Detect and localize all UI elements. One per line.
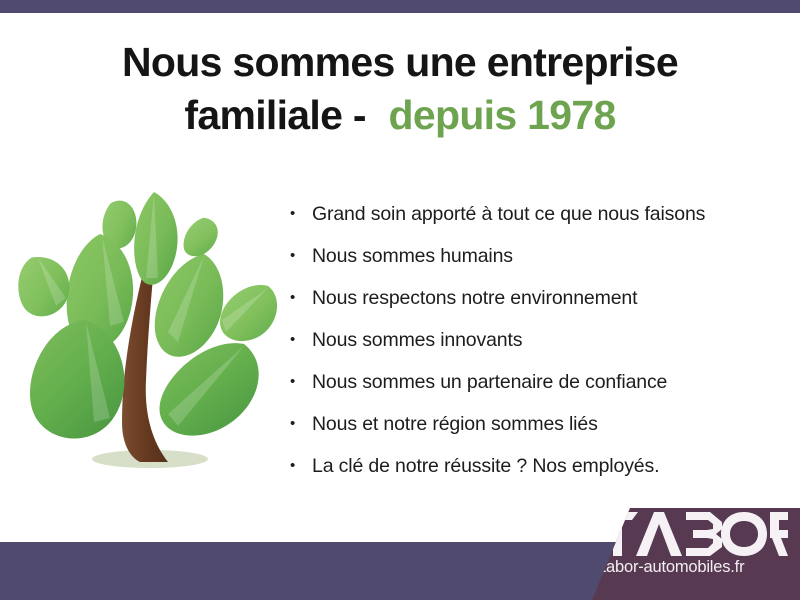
list-item: Nous et notre région sommes liés <box>288 403 774 445</box>
tabor-logo-wordmark <box>598 512 788 556</box>
list-item: Grand soin apporté à tout ce que nous fa… <box>288 193 774 235</box>
list-item: Nous sommes humains <box>288 235 774 277</box>
list-item: Nous sommes un partenaire de confiance <box>288 361 774 403</box>
list-item: La clé de notre réussite ? Nos employés. <box>288 445 774 487</box>
top-frame-bar <box>0 0 800 13</box>
headline-line-2-plain: familiale - <box>184 92 376 138</box>
list-item: Nous respectons notre environnement <box>288 277 774 319</box>
slide-canvas: Nous sommes une entreprise familiale - d… <box>0 0 800 600</box>
headline-line-1: Nous sommes une entreprise <box>122 39 678 85</box>
value-proposition-list: Grand soin apporté à tout ce que nous fa… <box>288 193 774 487</box>
headline-line-2-accent: depuis 1978 <box>389 92 616 138</box>
tree-illustration <box>18 182 284 482</box>
page-title: Nous sommes une entreprise familiale - d… <box>40 36 760 142</box>
list-item: Nous sommes innovants <box>288 319 774 361</box>
